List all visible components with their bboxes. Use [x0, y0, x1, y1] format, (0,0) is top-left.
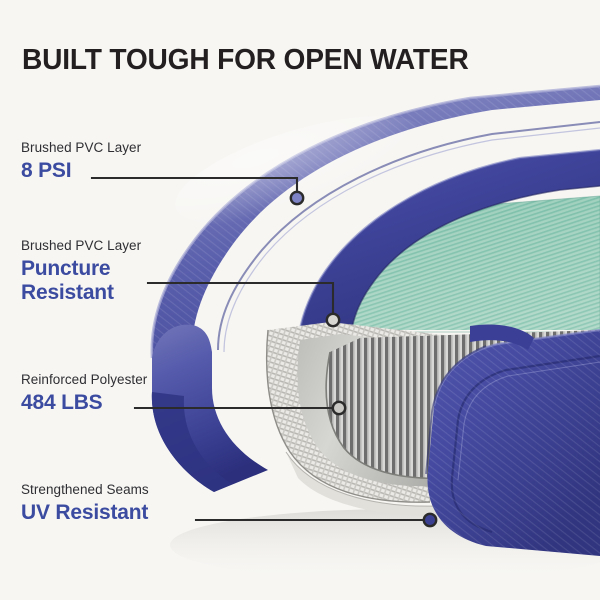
callout-psi-value: 8 PSI — [21, 159, 141, 183]
callout-lbs-material: Reinforced Polyester — [21, 372, 147, 388]
leader-dot-psi — [291, 192, 303, 204]
callout-puncture: Brushed PVC Layer Puncture Resistant — [21, 238, 141, 304]
callout-puncture-material: Brushed PVC Layer — [21, 238, 141, 254]
callout-lbs-value: 484 LBS — [21, 391, 147, 415]
callout-uv-material: Strengthened Seams — [21, 482, 149, 498]
leader-line-puncture — [148, 283, 333, 313]
leader-dot-lbs — [333, 402, 345, 414]
callout-puncture-value-line2: Resistant — [21, 281, 141, 305]
callout-puncture-value-line1: Puncture — [21, 257, 110, 280]
leader-dot-uv — [424, 514, 436, 526]
leader-dot-puncture — [327, 314, 339, 326]
callout-uv-value-line1: UV Resistant — [21, 501, 148, 524]
callout-lbs-value-line1: 484 LBS — [21, 391, 102, 414]
infographic-canvas: BUILT TOUGH FOR OPEN WATER Brushed PVC L… — [0, 0, 600, 600]
callout-psi: Brushed PVC Layer 8 PSI — [21, 140, 141, 183]
callout-psi-material: Brushed PVC Layer — [21, 140, 141, 156]
page-title: BUILT TOUGH FOR OPEN WATER — [22, 44, 469, 77]
callout-uv-value: UV Resistant — [21, 501, 149, 525]
callout-uv: Strengthened Seams UV Resistant — [21, 482, 149, 525]
callout-lbs: Reinforced Polyester 484 LBS — [21, 372, 147, 415]
callout-puncture-value: Puncture Resistant — [21, 257, 141, 304]
callout-psi-value-line1: 8 PSI — [21, 159, 71, 182]
